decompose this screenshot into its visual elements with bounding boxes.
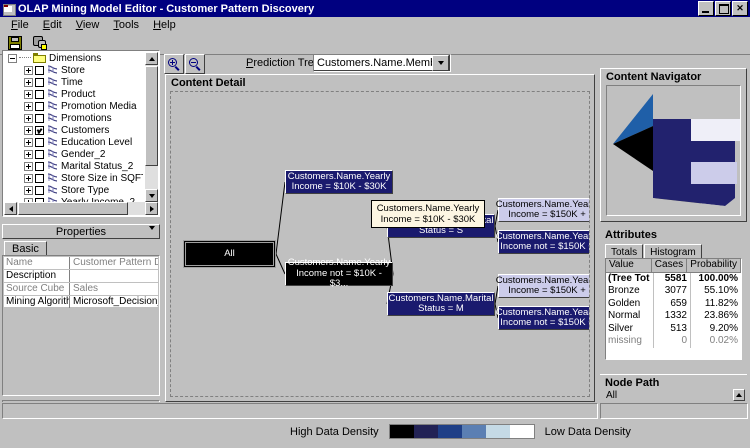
property-row[interactable]: NameCustomer Pattern Discov: [4, 257, 158, 270]
status-cell-right: [600, 403, 748, 419]
attributes-grid[interactable]: ValueCasesProbability(Tree Tot5581100.00…: [605, 258, 742, 360]
attributes-tabstrip: TotalsHistogram: [605, 244, 703, 259]
property-value[interactable]: Sales: [70, 283, 158, 295]
tree-node[interactable]: Customers.Name.Yearly Income not = $150K…: [498, 230, 590, 254]
tree-item-label: Store Type: [61, 185, 109, 196]
expand-toggle-icon[interactable]: [24, 114, 33, 123]
attributes-row[interactable]: Silver5139.20%: [606, 323, 741, 336]
expand-toggle-icon[interactable]: [24, 126, 33, 135]
attributes-title: Attributes: [605, 229, 657, 241]
attribute-value: Bronze: [606, 285, 654, 298]
scroll-up-button[interactable]: [145, 52, 158, 65]
expand-toggle-icon[interactable]: [24, 138, 33, 147]
tree-item-customers[interactable]: Customers: [4, 124, 143, 136]
chevron-down-icon[interactable]: [432, 55, 449, 71]
legend-high-label: High Data Density: [290, 426, 379, 438]
tree-item-time[interactable]: Time: [4, 76, 143, 88]
attributes-row[interactable]: Normal133223.86%: [606, 310, 741, 323]
legend-swatch: [486, 425, 510, 438]
content-navigator-thumbnail[interactable]: [606, 85, 741, 216]
legend-swatch: [510, 425, 534, 438]
dimension-icon: [47, 173, 58, 183]
dimension-checkbox[interactable]: [35, 174, 44, 183]
tree-item-label: Time: [61, 77, 83, 88]
dimension-icon: [47, 113, 58, 123]
attributes-row[interactable]: missing00.02%: [606, 335, 741, 348]
dimension-icon: [47, 137, 58, 147]
expand-toggle-icon[interactable]: [24, 102, 33, 111]
scroll-right-button[interactable]: [145, 202, 158, 215]
dimension-tree-hscrollbar[interactable]: [4, 202, 158, 215]
tree-item-education-level[interactable]: Education Level: [4, 136, 143, 148]
window-controls: ✕: [698, 1, 748, 16]
expand-toggle-icon[interactable]: [24, 186, 33, 195]
content-detail-panel: Content Detail AllCustomers.Name.Yearly …: [165, 74, 595, 402]
dimension-checkbox[interactable]: [35, 114, 44, 123]
dimension-icon: [47, 149, 58, 159]
dimension-checkbox[interactable]: [35, 90, 44, 99]
tab-totals[interactable]: Totals: [605, 244, 643, 259]
status-bar: [0, 402, 750, 420]
dimension-icon: [47, 101, 58, 111]
tree-item-label: Promotion Media: [61, 101, 137, 112]
attribute-cases: 659: [654, 298, 691, 311]
expand-toggle-icon[interactable]: [24, 174, 33, 183]
dimension-icon: [47, 185, 58, 195]
menu-bar: File Edit View Tools Help: [0, 17, 750, 33]
dimension-checkbox[interactable]: [35, 102, 44, 111]
attribute-cases: 513: [654, 323, 691, 336]
legend-swatches: [389, 424, 535, 439]
tree-node[interactable]: Customers.Name.Marital Status = M: [387, 292, 495, 316]
menu-view[interactable]: View: [69, 18, 107, 32]
content-navigator-panel: Content Navigator: [600, 68, 747, 222]
properties-panel: Properties Basic NameCustomer Pattern Di…: [2, 224, 160, 396]
tree-item-marital-status-2[interactable]: Marital Status_2: [4, 160, 143, 172]
expand-toggle-icon[interactable]: [24, 90, 33, 99]
dimension-checkbox[interactable]: [35, 78, 44, 87]
tree-node[interactable]: Customers.Name.Yearly Income not = $150K…: [498, 306, 590, 330]
dimension-icon: [47, 77, 58, 87]
scroll-up-button[interactable]: [733, 389, 745, 401]
property-row[interactable]: Description: [4, 270, 158, 283]
tree-item-store[interactable]: Store: [4, 64, 143, 76]
expand-toggle-icon[interactable]: [24, 150, 33, 159]
minimize-button[interactable]: [698, 1, 714, 16]
column-header-cases: Cases: [652, 259, 688, 272]
tree-item-label: Store Size in SQFT: [61, 173, 143, 184]
menu-file-label: ile: [18, 19, 29, 31]
zoom-out-icon[interactable]: [185, 54, 205, 74]
properties-tabstrip: Basic: [2, 241, 160, 256]
attribute-probability: 0.02%: [691, 335, 741, 348]
tree-root-dimensions[interactable]: Dimensions: [4, 52, 143, 64]
menu-file[interactable]: File: [4, 18, 36, 32]
menu-help-label: elp: [161, 19, 176, 31]
expand-toggle-icon[interactable]: [24, 78, 33, 87]
property-value[interactable]: [70, 270, 158, 282]
property-key: Source Cube: [4, 283, 70, 295]
attribute-cases: 0: [654, 335, 691, 348]
attribute-probability: 11.82%: [691, 298, 741, 311]
attribute-value: (Tree Tot: [606, 273, 654, 286]
tree-item-label: Marital Status_2: [61, 161, 133, 172]
menu-edit-label: dit: [50, 19, 62, 31]
dimension-checkbox[interactable]: [35, 126, 44, 135]
attributes-row[interactable]: Golden65911.82%: [606, 298, 741, 311]
zoom-button-group: [164, 54, 205, 74]
collapse-toggle-icon[interactable]: [8, 54, 17, 63]
tree-item-gender-2[interactable]: Gender_2: [4, 148, 143, 160]
tree-item-product[interactable]: Product: [4, 88, 143, 100]
tree-node[interactable]: All: [183, 240, 276, 268]
prediction-tree-label: Prediction Tree:: [246, 57, 323, 69]
property-key: Mining Algorithm: [4, 296, 70, 308]
column-header-probability: Probability: [687, 259, 741, 272]
properties-grid[interactable]: NameCustomer Pattern DiscovDescriptionSo…: [2, 255, 160, 396]
tree-node[interactable]: Customers.Name.Yearly Income not = $10K …: [285, 262, 393, 286]
scroll-thumb[interactable]: [145, 66, 158, 166]
app-window-icon: [2, 3, 15, 15]
property-key: Description: [4, 270, 70, 282]
attribute-probability: 9.20%: [691, 323, 741, 336]
floppy-disk-icon: [8, 36, 22, 50]
close-button[interactable]: ✕: [732, 1, 748, 16]
tab-basic[interactable]: Basic: [4, 241, 47, 256]
attributes-row[interactable]: Bronze307755.10%: [606, 285, 741, 298]
dimension-checkbox[interactable]: [35, 186, 44, 195]
property-value[interactable]: Customer Pattern Discov: [70, 257, 158, 269]
attribute-probability: 23.86%: [691, 310, 741, 323]
tab-histogram[interactable]: Histogram: [644, 244, 702, 259]
tree-connector: [19, 57, 31, 59]
menu-help[interactable]: Help: [146, 18, 183, 32]
property-value[interactable]: Microsoft_Decision_Tre: [70, 296, 158, 308]
attribute-value: Silver: [606, 323, 654, 336]
attribute-cases: 1332: [654, 310, 691, 323]
dimension-checkbox[interactable]: [35, 150, 44, 159]
column-header-value: Value: [606, 259, 652, 272]
content-navigator-title: Content Navigator: [606, 71, 701, 83]
tree-node[interactable]: Customers.Name.Yearly Income = $150K +: [498, 274, 590, 298]
scroll-left-button[interactable]: [4, 202, 17, 215]
expand-toggle-icon[interactable]: [24, 162, 33, 171]
tree-node[interactable]: Customers.Name.Yearly Income = $10K - $3…: [285, 170, 393, 194]
property-row[interactable]: Mining AlgorithmMicrosoft_Decision_Tre: [4, 296, 158, 309]
dimension-checkbox[interactable]: [35, 138, 44, 147]
properties-title: Properties: [56, 226, 106, 238]
content-detail-title: Content Detail: [171, 77, 246, 89]
legend-swatch: [390, 425, 414, 438]
dimension-icon: [47, 65, 58, 75]
dimension-checkbox[interactable]: [35, 162, 44, 171]
tree-item-label: Gender_2: [61, 149, 105, 160]
dimension-icon: [47, 125, 58, 135]
legend-swatch: [462, 425, 486, 438]
data-density-legend: High Data Density Low Data Density: [0, 420, 750, 448]
tree-node[interactable]: Customers.Name.Yearly Income = $150K +: [498, 198, 590, 222]
dimension-icon: [47, 161, 58, 171]
window-title: OLAP Mining Model Editor - Customer Patt…: [18, 3, 314, 15]
attributes-header-row: ValueCasesProbability: [606, 259, 741, 273]
restore-button[interactable]: [715, 1, 731, 16]
application-window: OLAP Mining Model Editor - Customer Patt…: [0, 0, 750, 448]
legend-swatch: [438, 425, 462, 438]
legend-low-label: Low Data Density: [545, 426, 631, 438]
title-bar: OLAP Mining Model Editor - Customer Patt…: [0, 0, 750, 17]
attribute-value: Normal: [606, 310, 654, 323]
tree-item-label: Promotions: [61, 113, 112, 124]
tree-item-label: Store: [61, 65, 85, 76]
tree-item-store-type[interactable]: Store Type: [4, 184, 143, 196]
attribute-probability: 100.00%: [691, 273, 741, 286]
menu-tools-label: ools: [119, 19, 139, 31]
status-cell-left: [2, 403, 598, 419]
decision-tree-canvas[interactable]: AllCustomers.Name.Yearly Income = $10K -…: [170, 91, 590, 397]
scroll-down-button[interactable]: [145, 189, 158, 202]
dimension-tree[interactable]: DimensionsStoreTimeProductPromotion Medi…: [4, 52, 143, 202]
expand-toggle-icon[interactable]: [24, 66, 33, 75]
prediction-tree-dropdown[interactable]: Customers.Name.Member Card: [313, 54, 451, 72]
node-path-title: Node Path: [605, 377, 659, 389]
tree-item-store-size-in-sqft[interactable]: Store Size in SQFT: [4, 172, 143, 184]
legend-swatch: [414, 425, 438, 438]
attributes-panel: Attributes TotalsHistogram ValueCasesPro…: [600, 228, 747, 368]
menu-tools[interactable]: Tools: [106, 18, 146, 32]
process-gear-icon: [33, 36, 48, 50]
zoom-in-icon[interactable]: [164, 54, 184, 74]
tree-item-label: Education Level: [61, 137, 132, 148]
node-tooltip: Customers.Name.Yearly Income = $10K - $3…: [371, 200, 485, 228]
attribute-cases: 5581: [654, 273, 691, 286]
tree-root-label: Dimensions: [49, 53, 101, 64]
properties-header[interactable]: Properties: [2, 224, 160, 239]
menu-view-label: iew: [83, 19, 100, 31]
tree-item-promotion-media[interactable]: Promotion Media: [4, 100, 143, 112]
scroll-thumb-horizontal[interactable]: [18, 202, 128, 215]
navigator-overview-graphic: [607, 86, 741, 214]
node-path-item[interactable]: All: [606, 390, 743, 401]
dimension-checkbox[interactable]: [35, 66, 44, 75]
attribute-value: missing: [606, 335, 654, 348]
tree-item-label: Product: [61, 89, 95, 100]
folder-icon: [33, 53, 46, 63]
dimension-tree-panel: DimensionsStoreTimeProductPromotion Medi…: [2, 50, 160, 217]
attribute-cases: 3077: [654, 285, 691, 298]
dimension-icon: [47, 89, 58, 99]
property-row[interactable]: Source CubeSales: [4, 283, 158, 296]
attributes-row[interactable]: (Tree Tot5581100.00%: [606, 273, 741, 286]
tree-item-promotions[interactable]: Promotions: [4, 112, 143, 124]
dimension-tree-vscrollbar[interactable]: [145, 52, 158, 202]
property-key: Name: [4, 257, 70, 269]
attribute-value: Golden: [606, 298, 654, 311]
tree-item-label: Customers: [61, 125, 109, 136]
menu-edit[interactable]: Edit: [36, 18, 69, 32]
prediction-tree-value: Customers.Name.Member Card: [314, 57, 432, 69]
attribute-probability: 55.10%: [691, 285, 741, 298]
